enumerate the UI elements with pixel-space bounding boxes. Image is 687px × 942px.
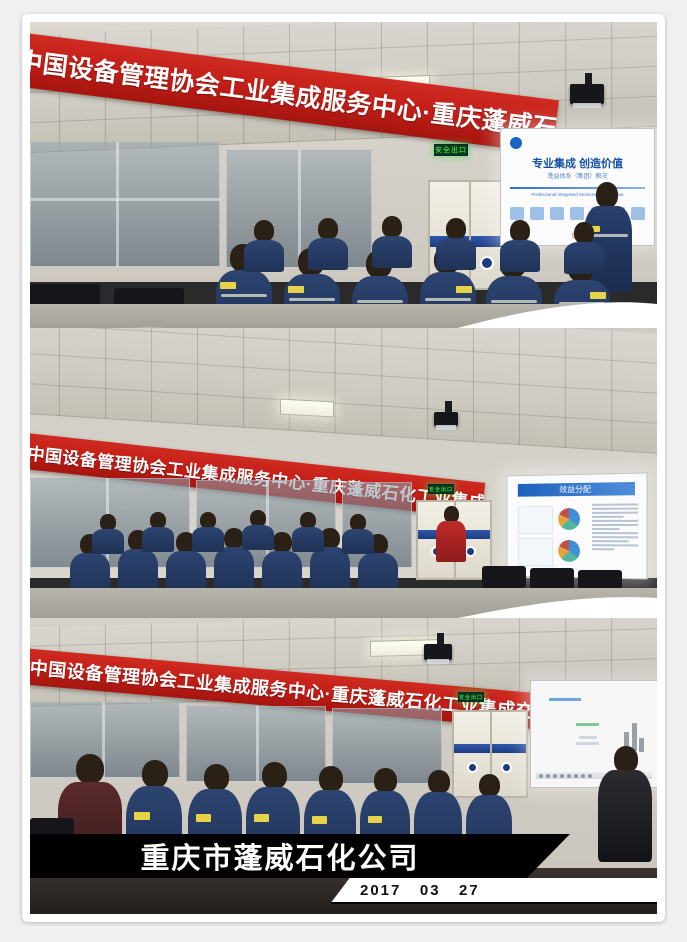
head [318,218,338,240]
toolbar-dot-icon [539,774,543,778]
slide-title: 效益分配 [518,482,635,497]
projector-icon [424,644,452,660]
head [224,528,244,549]
slide-thumb-icon [510,207,524,220]
uniform-armband [134,812,150,820]
slide-title: 专业集成 创造价值 [501,155,654,171]
uniform-stripe [289,298,335,301]
exit-sign-text: 安全出口 [435,145,467,155]
exit-sign: 安全出口 [458,692,484,702]
projector-icon [570,84,604,104]
torso [372,236,412,268]
slide-subtitle: 蓬益体系（集团）概况 [501,171,654,180]
audience-member [500,220,540,272]
chair [530,568,574,590]
audience-member [308,218,348,270]
photo-collage: 中国设备管理协会工业集成服务中心·重庆蓬威石化工业集成交流会 安全出口 [30,22,657,914]
uniform-armband [312,816,327,824]
audience-member [142,512,174,552]
exit-sign-text: 安全出口 [429,486,453,493]
audience-member [436,218,476,270]
presenter-head [614,746,638,773]
glass-partition [30,142,220,267]
head [479,774,500,797]
torso [244,240,284,272]
slide-text-line [576,723,599,726]
uniform-armband [196,814,211,822]
slide-thumb-icon [530,207,544,220]
audience-member [244,220,284,272]
audience-member [192,512,224,552]
presenter-head [596,182,618,208]
presenter-torso [598,770,652,862]
head [142,760,168,788]
company-name-label: 重庆市蓬威石化公司 [140,835,459,877]
exit-sign-text: 安全出口 [459,694,483,701]
door-sign-icon [467,762,478,773]
slide-text-line [549,698,582,701]
date-label: 2017 03 27 [360,882,480,899]
slide-pie-chart [558,540,580,562]
chair [482,566,526,588]
uniform-stripe [425,298,471,301]
slide-text-line [579,736,597,739]
slide-logo-icon [510,137,522,149]
projection-screen: 效益分配 [507,472,648,579]
uniform-armband [254,814,269,822]
photo-top: 中国设备管理协会工业集成服务中心·重庆蓬威石化工业集成交流会 安全出口 [30,22,657,338]
audience-member [292,512,324,552]
exit-sign: 安全出口 [434,144,468,156]
slide-thumb-icon [550,207,564,220]
projector-icon [434,412,458,426]
caption-bar: 重庆市蓬威石化公司 [30,834,570,878]
torso [142,527,174,552]
head [428,770,450,794]
uniform-stripe [221,294,267,297]
torso [214,547,254,592]
toolbar-dot-icon [567,774,571,778]
head [382,216,402,238]
toolbar-dot-icon [574,774,578,778]
uniform-armband [590,292,606,299]
toolbar-dot-icon [553,774,557,778]
door-sign-icon [501,762,512,773]
collage-page: 中国设备管理协会工业集成服务中心·重庆蓬威石化工业集成交流会 安全出口 [0,0,687,942]
photo-middle-scene: 中国设备管理协会工业集成服务中心·重庆蓬威石化工业集成交流会 安全出口 [30,328,657,628]
slide-text-block [592,503,638,552]
slide-pie-chart [558,508,580,530]
presenter-torso [436,521,466,562]
head [272,532,292,553]
torso [92,529,124,554]
presenter-bottom [598,746,652,862]
torso [342,529,374,554]
toolbar-dot-icon [546,774,550,778]
head [374,768,397,793]
audience-member [342,514,374,554]
torso [192,527,224,552]
photo-frame: 中国设备管理协会工业集成服务中心·重庆蓬威石化工业集成交流会 安全出口 [22,14,665,922]
head [204,764,229,791]
head [510,220,530,242]
torso [500,240,540,272]
uniform-armband [220,282,236,289]
torso [564,242,604,274]
toolbar-dot-icon [588,774,592,778]
slide-chart-panel [518,538,553,566]
uniform-stripe [357,300,403,303]
door-sign-icon [465,546,476,557]
head [319,766,343,792]
toolbar-dot-icon [581,774,585,778]
head [254,220,274,242]
photo-top-scene: 中国设备管理协会工业集成服务中心·重庆蓬威石化工业集成交流会 安全出口 [30,22,657,338]
torso [242,525,274,550]
slide-chart-panel [518,506,553,534]
window-mullion [30,198,220,201]
audience-member [242,510,274,550]
torso [436,238,476,270]
head [76,754,104,784]
uniform-armband [456,286,472,293]
torso [292,527,324,552]
head [574,222,594,244]
date-strip: 2017 03 27 [330,878,657,904]
torso [308,238,348,270]
slide-text-line [576,742,599,745]
presenter-middle [436,506,466,562]
ceiling-light [280,399,334,418]
toolbar-dot-icon [560,774,564,778]
head [446,218,466,240]
head [262,762,287,789]
photo-middle: 中国设备管理协会工业集成服务中心·重庆蓬威石化工业集成交流会 安全出口 [30,328,657,628]
audience-member [92,514,124,554]
uniform-armband [368,816,382,823]
audience-member [564,222,604,274]
uniform-stripe [491,300,537,303]
exit-sign: 安全出口 [428,484,454,494]
window-mullion [116,142,119,267]
audience-member [372,216,412,268]
uniform-armband [288,286,304,293]
